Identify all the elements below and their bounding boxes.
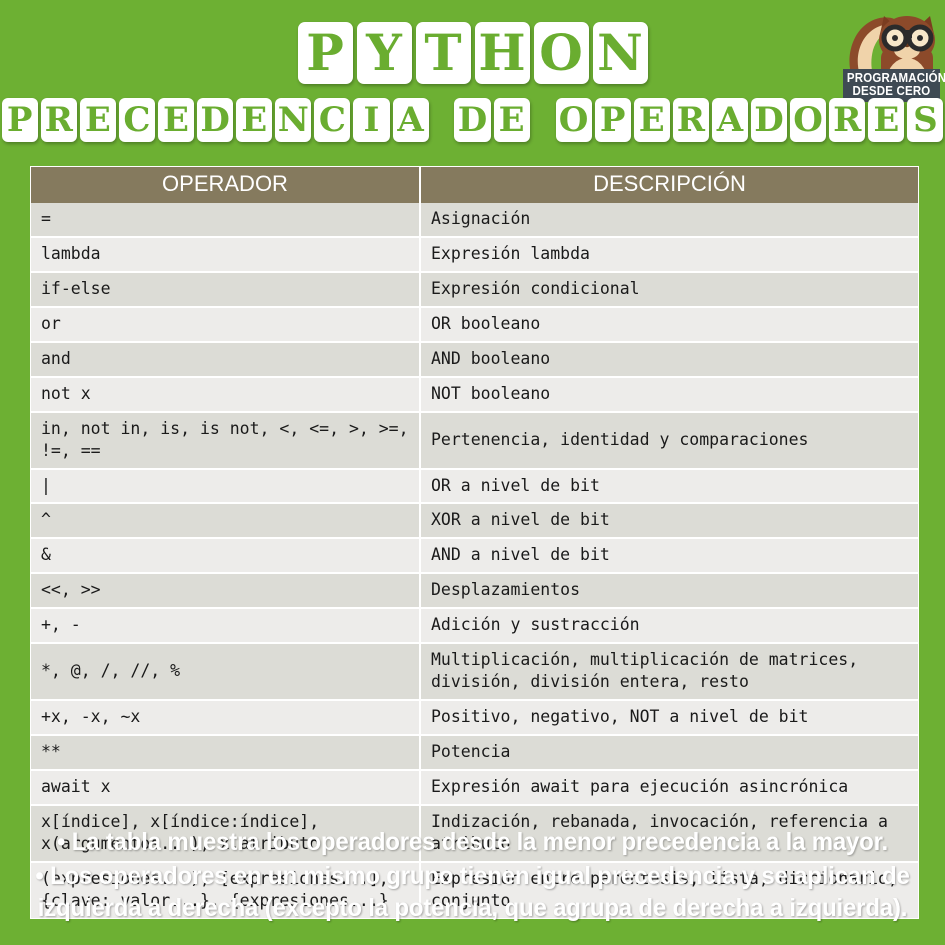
cell-descripcion: Desplazamientos xyxy=(420,573,918,608)
table-row: andAND booleano xyxy=(31,342,918,377)
title-sub-letter-17: E xyxy=(634,98,670,142)
title-sub-letter-15: O xyxy=(556,98,592,142)
title-sub-letter-2: E xyxy=(80,98,116,142)
title-sub-letter-10: A xyxy=(393,98,429,142)
cell-descripcion: Adición y sustracción xyxy=(420,608,918,643)
cell-operador: +x, -x, ~x xyxy=(31,700,420,735)
table-row: lambdaExpresión lambda xyxy=(31,237,918,272)
table-row: ^XOR a nivel de bit xyxy=(31,503,918,538)
title-python-letter-3: H xyxy=(475,22,530,84)
table-row: *, @, /, //, %Multiplicación, multiplica… xyxy=(31,643,918,700)
cell-descripcion: Pertenencia, identidad y comparaciones xyxy=(420,412,918,469)
title-sub-letter-6: E xyxy=(236,98,272,142)
table-header-row: OPERADOR DESCRIPCIÓN xyxy=(31,167,918,203)
title-sub-letter-9: I xyxy=(353,98,389,142)
cell-descripcion: Positivo, negativo, NOT a nivel de bit xyxy=(420,700,918,735)
column-header-descripcion: DESCRIPCIÓN xyxy=(420,167,918,203)
table-body: =AsignaciónlambdaExpresión lambdaif-else… xyxy=(31,203,918,918)
cell-descripcion: Expresión await para ejecución asincróni… xyxy=(420,770,918,805)
title-sub-letter-7: N xyxy=(275,98,311,142)
table-row: +x, -x, ~xPositivo, negativo, NOT a nive… xyxy=(31,700,918,735)
page-title-python: PYTHON xyxy=(0,22,945,84)
cell-descripcion: Expresión lambda xyxy=(420,237,918,272)
cell-operador: await x xyxy=(31,770,420,805)
cell-operador: ** xyxy=(31,735,420,770)
title-sub-letter-22: R xyxy=(829,98,865,142)
cell-descripcion: NOT booleano xyxy=(420,377,918,412)
table-row: &AND a nivel de bit xyxy=(31,538,918,573)
cell-operador: in, not in, is, is not, <, <=, >, >=, !=… xyxy=(31,412,420,469)
cell-descripcion: AND a nivel de bit xyxy=(420,538,918,573)
cell-operador: ^ xyxy=(31,503,420,538)
table-row: await xExpresión await para ejecución as… xyxy=(31,770,918,805)
title-sub-letter-18: R xyxy=(673,98,709,142)
cell-descripcion: Potencia xyxy=(420,735,918,770)
page-title-subtitle: PRECEDENCIADEOPERADORES xyxy=(0,98,945,142)
table-row: =Asignación xyxy=(31,203,918,237)
column-header-operador: OPERADOR xyxy=(31,167,420,203)
title-sub-letter-20: D xyxy=(751,98,787,142)
cell-operador: if-else xyxy=(31,272,420,307)
title-python-letter-0: P xyxy=(298,22,353,84)
cell-descripcion: OR a nivel de bit xyxy=(420,469,918,504)
title-sub-letter-13: E xyxy=(494,98,530,142)
title-sub-letter-11 xyxy=(432,98,452,142)
cell-descripcion: OR booleano xyxy=(420,307,918,342)
table-row: +, -Adición y sustracción xyxy=(31,608,918,643)
cell-operador: | xyxy=(31,469,420,504)
cell-descripcion: XOR a nivel de bit xyxy=(420,503,918,538)
footer-line-2: • Los operadores en un mismo grupo tiene… xyxy=(32,860,912,924)
cell-operador: or xyxy=(31,307,420,342)
table-row: not xNOT booleano xyxy=(31,377,918,412)
title-python-letter-1: Y xyxy=(357,22,412,84)
cell-descripcion: Expresión condicional xyxy=(420,272,918,307)
title-sub-letter-19: A xyxy=(712,98,748,142)
cell-descripcion: Multiplicación, multiplicación de matric… xyxy=(420,643,918,700)
operator-precedence-table: OPERADOR DESCRIPCIÓN =AsignaciónlambdaEx… xyxy=(30,166,919,919)
title-sub-letter-16: P xyxy=(595,98,631,142)
title-sub-letter-24: S xyxy=(907,98,943,142)
title-sub-letter-12: D xyxy=(454,98,490,142)
footer-notes: • La tabla muestra los operadores desde … xyxy=(0,826,945,926)
title-sub-letter-0: P xyxy=(2,98,38,142)
cell-operador: *, @, /, //, % xyxy=(31,643,420,700)
infographic-page: PROGRAMACIÓN DESDE CERO PYTHON PRECEDENC… xyxy=(0,0,945,945)
title-sub-letter-23: E xyxy=(868,98,904,142)
title-sub-letter-4: E xyxy=(158,98,194,142)
title-python-letter-2: T xyxy=(416,22,471,84)
cell-operador: = xyxy=(31,203,420,237)
table-row: orOR booleano xyxy=(31,307,918,342)
title-sub-letter-3: C xyxy=(119,98,155,142)
cell-operador: +, - xyxy=(31,608,420,643)
footer-line-1: • La tabla muestra los operadores desde … xyxy=(32,826,912,858)
cell-operador: not x xyxy=(31,377,420,412)
table-row: if-elseExpresión condicional xyxy=(31,272,918,307)
cell-operador: and xyxy=(31,342,420,377)
title-sub-letter-14 xyxy=(533,98,553,142)
table-row: in, not in, is, is not, <, <=, >, >=, !=… xyxy=(31,412,918,469)
cell-operador: <<, >> xyxy=(31,573,420,608)
table-row: |OR a nivel de bit xyxy=(31,469,918,504)
cell-operador: lambda xyxy=(31,237,420,272)
title-sub-letter-5: D xyxy=(197,98,233,142)
cell-operador: & xyxy=(31,538,420,573)
title-python-letter-4: O xyxy=(534,22,589,84)
cell-descripcion: AND booleano xyxy=(420,342,918,377)
title-sub-letter-1: R xyxy=(41,98,77,142)
cell-descripcion: Asignación xyxy=(420,203,918,237)
title-sub-letter-8: C xyxy=(314,98,350,142)
title-python-letter-5: N xyxy=(593,22,648,84)
table-row: **Potencia xyxy=(31,735,918,770)
title-sub-letter-21: O xyxy=(790,98,826,142)
logo-line-2: DESDE CERO xyxy=(847,85,936,98)
table-row: <<, >>Desplazamientos xyxy=(31,573,918,608)
